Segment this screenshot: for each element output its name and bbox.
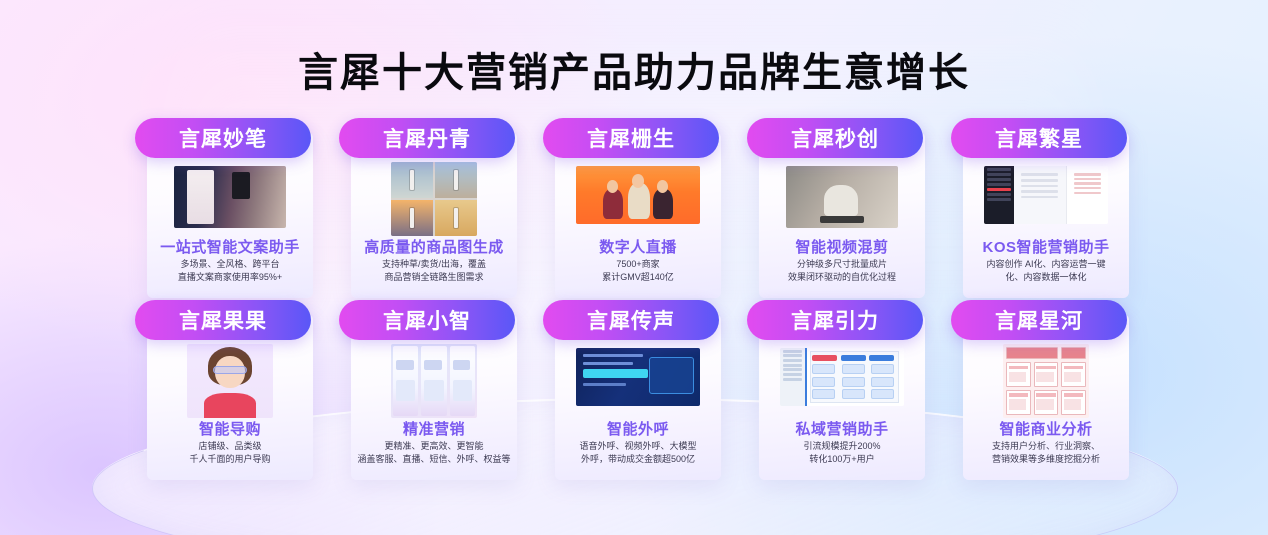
card-pill-label: 言犀栅生 bbox=[587, 123, 675, 153]
card-pill-badge: 言犀传声 bbox=[543, 300, 719, 340]
card-thumbnail-product-photo-grid bbox=[391, 162, 477, 236]
card-thumbnail-voice-call-ui bbox=[576, 348, 700, 406]
card-description-line: 分钟级多尺寸批量成片 bbox=[751, 258, 933, 271]
card-pill-label: 言犀妙笔 bbox=[179, 123, 267, 153]
card-pill-badge: 言犀妙笔 bbox=[135, 118, 311, 158]
card-thumbnail-avatar-assistant bbox=[187, 344, 273, 418]
card-description: 店铺级、品类级 千人千面的用户导购 bbox=[139, 440, 321, 466]
product-card[interactable]: 言犀星河 智能商业分析 支持用户分析、行业洞察、 营销效果等多维度挖掘分析 bbox=[951, 300, 1141, 480]
card-thumbnail-private-domain-console bbox=[780, 348, 904, 406]
card-pill-label: 言犀秒创 bbox=[791, 123, 879, 153]
product-card[interactable]: 言犀秒创 智能视频混剪 分钟级多尺寸批量成片 效果闭环驱动的自优化过程 bbox=[747, 118, 937, 298]
card-pill-badge: 言犀丹青 bbox=[339, 118, 515, 158]
card-description-line: 支持种草/卖货/出海，覆盖 bbox=[343, 258, 525, 271]
card-description-line: 累计GMV超140亿 bbox=[547, 271, 729, 284]
card-headline: 智能商业分析 bbox=[951, 418, 1141, 439]
product-card-grid: 言犀妙笔 一站式智能文案助手 多场景、全风格、跨平台 直播文案商家使用率95%+… bbox=[135, 118, 1135, 480]
card-description-line: 更精准、更高效、更智能 bbox=[343, 440, 525, 453]
card-pill-label: 言犀星河 bbox=[995, 305, 1083, 335]
card-description-line: 千人千面的用户导购 bbox=[139, 453, 321, 466]
card-description-line: 化、内容数据一体化 bbox=[955, 271, 1137, 284]
card-pill-label: 言犀小智 bbox=[383, 305, 471, 335]
product-card[interactable]: 言犀栅生 数字人直播 7500+商家 累计GMV超140亿 bbox=[543, 118, 733, 298]
card-description-line: 直播文案商家使用率95%+ bbox=[139, 271, 321, 284]
card-description: 7500+商家 累计GMV超140亿 bbox=[547, 258, 729, 284]
poster-stage: 言犀十大营销产品助力品牌生意增长 言犀妙笔 一站式智能文案助手 多场景、全风格、… bbox=[0, 0, 1268, 535]
card-headline: 智能导购 bbox=[135, 418, 325, 439]
card-headline: KOS智能营销助手 bbox=[951, 236, 1141, 257]
card-description-line: 引流规模提升200% bbox=[751, 440, 933, 453]
card-description: 支持种草/卖货/出海，覆盖 商品营销全链路生图需求 bbox=[343, 258, 525, 284]
card-description-line: 多场景、全风格、跨平台 bbox=[139, 258, 321, 271]
card-pill-label: 言犀丹青 bbox=[383, 123, 471, 153]
card-pill-badge: 言犀果果 bbox=[135, 300, 311, 340]
card-description: 内容创作 AI化、内容运营一键 化、内容数据一体化 bbox=[955, 258, 1137, 284]
card-description: 分钟级多尺寸批量成片 效果闭环驱动的自优化过程 bbox=[751, 258, 933, 284]
card-headline: 数字人直播 bbox=[543, 236, 733, 257]
card-description-line: 支持用户分析、行业洞察、 bbox=[955, 440, 1137, 453]
product-card[interactable]: 言犀繁星 KOS智能营销助手 内容创作 AI化、内容运营一键 化、内容数据一体化 bbox=[951, 118, 1141, 298]
card-description-line: 营销效果等多维度挖掘分析 bbox=[955, 453, 1137, 466]
card-thumbnail-digital-human-livestream bbox=[576, 166, 700, 224]
card-description-line: 店铺级、品类级 bbox=[139, 440, 321, 453]
card-description: 引流规模提升200% 转化100万+用户 bbox=[751, 440, 933, 466]
card-pill-label: 言犀传声 bbox=[587, 305, 675, 335]
card-headline: 高质量的商品图生成 bbox=[339, 236, 529, 257]
card-thumbnail-video-product-shot bbox=[786, 166, 898, 228]
card-description-line: 转化100万+用户 bbox=[751, 453, 933, 466]
card-headline: 智能视频混剪 bbox=[747, 236, 937, 257]
product-card[interactable]: 言犀传声 智能外呼 语音外呼、视频外呼、大模型 外呼，带动成交金额超500亿 bbox=[543, 300, 733, 480]
card-thumbnail-app-screenshots-collage bbox=[174, 166, 286, 228]
card-headline: 一站式智能文案助手 bbox=[135, 236, 325, 257]
card-thumbnail-dashboard-console bbox=[984, 166, 1108, 224]
card-thumbnail-chat-phone-screens bbox=[391, 344, 477, 418]
page-title: 言犀十大营销产品助力品牌生意增长 bbox=[0, 40, 1268, 98]
card-headline: 私域营销助手 bbox=[747, 418, 937, 439]
card-description: 更精准、更高效、更智能 涵盖客服、直播、短信、外呼、权益等 bbox=[343, 440, 525, 466]
card-description: 多场景、全风格、跨平台 直播文案商家使用率95%+ bbox=[139, 258, 321, 284]
card-description-line: 7500+商家 bbox=[547, 258, 729, 271]
card-pill-badge: 言犀秒创 bbox=[747, 118, 923, 158]
card-pill-label: 言犀引力 bbox=[791, 305, 879, 335]
card-description: 支持用户分析、行业洞察、 营销效果等多维度挖掘分析 bbox=[955, 440, 1137, 466]
card-pill-label: 言犀繁星 bbox=[995, 123, 1083, 153]
product-card[interactable]: 言犀丹青 高质量的商品图生成 支持种草/卖货/出海，覆盖 商品营销全链路生图需求 bbox=[339, 118, 529, 298]
card-pill-label: 言犀果果 bbox=[179, 305, 267, 335]
card-description-line: 内容创作 AI化、内容运营一键 bbox=[955, 258, 1137, 271]
card-description: 语音外呼、视频外呼、大模型 外呼，带动成交金额超500亿 bbox=[547, 440, 729, 466]
card-pill-badge: 言犀星河 bbox=[951, 300, 1127, 340]
product-card[interactable]: 言犀小智 精准营销 更精准、更高效、更智能 涵盖客服、直播、短信、外呼、权益等 bbox=[339, 300, 529, 480]
card-description-line: 涵盖客服、直播、短信、外呼、权益等 bbox=[343, 453, 525, 466]
card-description-line: 商品营销全链路生图需求 bbox=[343, 271, 525, 284]
product-card[interactable]: 言犀引力 私域营销助手 引流规模提升200% 转化100万+用户 bbox=[747, 300, 937, 480]
card-description-line: 外呼，带动成交金额超500亿 bbox=[547, 453, 729, 466]
card-pill-badge: 言犀小智 bbox=[339, 300, 515, 340]
card-description-line: 语音外呼、视频外呼、大模型 bbox=[547, 440, 729, 453]
card-headline: 智能外呼 bbox=[543, 418, 733, 439]
product-card[interactable]: 言犀果果 智能导购 店铺级、品类级 千人千面的用户导购 bbox=[135, 300, 325, 480]
card-pill-badge: 言犀栅生 bbox=[543, 118, 719, 158]
card-pill-badge: 言犀引力 bbox=[747, 300, 923, 340]
card-headline: 精准营销 bbox=[339, 418, 529, 439]
card-pill-badge: 言犀繁星 bbox=[951, 118, 1127, 158]
card-description-line: 效果闭环驱动的自优化过程 bbox=[751, 271, 933, 284]
card-thumbnail-analytics-reports bbox=[1003, 344, 1089, 418]
product-card[interactable]: 言犀妙笔 一站式智能文案助手 多场景、全风格、跨平台 直播文案商家使用率95%+ bbox=[135, 118, 325, 298]
